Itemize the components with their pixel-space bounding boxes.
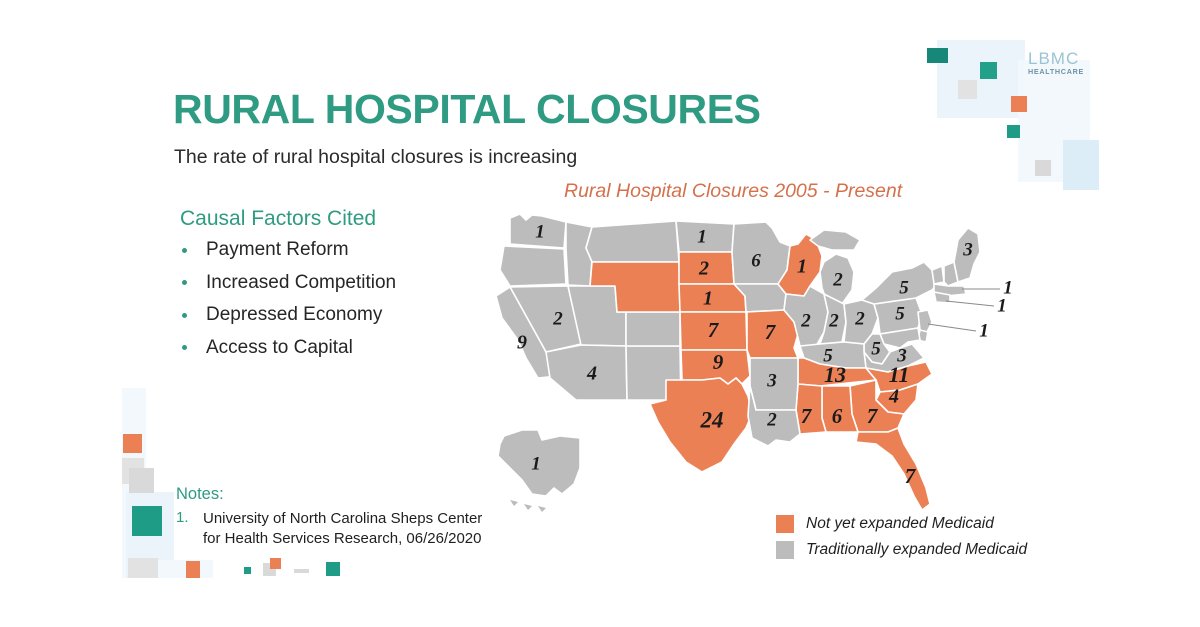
list-item: Payment Reform xyxy=(180,234,396,267)
state-value-ND: 1 xyxy=(697,226,707,247)
state-FL xyxy=(856,428,930,510)
legend-label: Not yet expanded Medicaid xyxy=(806,514,994,534)
decor-pale-block-bl-3 xyxy=(155,560,213,578)
us-choropleth-map: 1 1 6 2 1 7 7 1 2 2 9 4 9 24 3 2 2 2 2 5… xyxy=(480,200,1080,560)
causal-factors-heading: Causal Factors Cited xyxy=(180,207,376,231)
state-value-KS: 7 xyxy=(708,318,720,342)
decor-square-gray-tr-1 xyxy=(958,80,977,99)
list-item-label: Increased Competition xyxy=(206,272,396,293)
state-value-NV: 2 xyxy=(552,308,563,329)
causal-factors-list: Payment Reform Increased Competition Dep… xyxy=(180,234,396,364)
state-VT xyxy=(932,266,944,284)
leader-line-ct xyxy=(946,301,994,306)
state-value-PA: 5 xyxy=(895,303,905,324)
bullet-icon xyxy=(182,248,187,253)
bullet-icon xyxy=(182,313,187,318)
decor-square-gray-bl-2 xyxy=(129,468,154,493)
state-CO xyxy=(617,312,680,346)
lbmc-logo: LBMC HEALTHCARE xyxy=(1028,50,1096,75)
state-MT xyxy=(586,221,679,262)
state-value-MI: 2 xyxy=(832,269,843,290)
slide-canvas: LBMC HEALTHCARE RURAL HOSPITAL CLOSURES … xyxy=(0,0,1200,627)
logo-wordmark: LBMC xyxy=(1028,50,1096,67)
notes-text: University of North Carolina Sheps Cente… xyxy=(203,509,493,549)
bullet-icon xyxy=(182,345,187,350)
state-value-WI: 1 xyxy=(797,256,807,278)
decor-square-teal-bl-2 xyxy=(244,567,251,574)
decor-square-orange-tr-1 xyxy=(1011,96,1027,112)
state-value-AR: 3 xyxy=(766,370,777,391)
list-item-label: Access to Capital xyxy=(206,337,353,358)
decor-square-gray-bl-3 xyxy=(128,558,158,578)
decor-pale-block-tr-3 xyxy=(1063,140,1099,190)
legend-swatch-orange xyxy=(776,515,794,533)
state-AK-islands xyxy=(510,500,546,512)
state-value-IN: 2 xyxy=(828,310,839,331)
state-value-MO: 7 xyxy=(765,320,777,344)
state-value-AK: 1 xyxy=(531,453,541,474)
decor-square-gray-tr-2 xyxy=(1035,160,1051,176)
decor-square-teal-tr-1 xyxy=(927,48,948,63)
list-item: Depressed Economy xyxy=(180,299,396,332)
page-title: RURAL HOSPITAL CLOSURES xyxy=(173,86,761,133)
state-value-NC: 11 xyxy=(889,362,910,387)
state-value-NE: 1 xyxy=(703,288,713,310)
decor-square-orange-bl-1 xyxy=(123,434,142,453)
state-value-OH: 2 xyxy=(854,308,865,329)
notes-heading: Notes: xyxy=(176,485,224,504)
state-value-FL: 7 xyxy=(905,464,917,488)
state-value-GA: 7 xyxy=(867,404,879,428)
state-value-MS: 7 xyxy=(801,404,813,428)
state-value-CT: 1 xyxy=(997,295,1007,316)
decor-square-teal-bl-3 xyxy=(326,562,340,576)
state-value-WV: 5 xyxy=(871,338,881,359)
state-MN xyxy=(732,222,790,284)
state-value-NY: 5 xyxy=(899,277,909,298)
state-value-SD: 2 xyxy=(698,258,709,280)
state-value-AZ: 4 xyxy=(586,363,597,385)
state-value-OK: 9 xyxy=(713,350,724,374)
decor-square-gray-bl-5 xyxy=(294,569,309,573)
list-item-label: Depressed Economy xyxy=(206,304,382,325)
state-value-WA: 1 xyxy=(535,221,545,242)
decor-square-orange-bl-2 xyxy=(186,561,200,578)
logo-tagline: HEALTHCARE xyxy=(1028,68,1096,75)
state-value-AL: 6 xyxy=(832,404,843,428)
leader-line-nj xyxy=(928,324,976,331)
list-item-label: Payment Reform xyxy=(206,239,349,260)
legend-swatch-gray xyxy=(776,541,794,559)
state-value-MN: 6 xyxy=(751,250,761,271)
list-item: Increased Competition xyxy=(180,267,396,300)
decor-square-orange-bl-3 xyxy=(270,558,281,569)
state-value-ME: 3 xyxy=(962,239,973,260)
decor-square-teal-bl-1 xyxy=(132,506,162,536)
state-value-CA: 9 xyxy=(517,332,527,354)
bullet-icon xyxy=(182,280,187,285)
list-item: Access to Capital xyxy=(180,332,396,365)
state-value-LA: 2 xyxy=(766,409,777,430)
decor-square-teal-tr-3 xyxy=(1007,125,1020,138)
state-value-TX: 24 xyxy=(700,407,724,432)
state-value-TN: 13 xyxy=(824,362,846,387)
state-value-SC: 4 xyxy=(888,386,899,408)
state-value-IL: 2 xyxy=(800,310,811,331)
legend-label: Traditionally expanded Medicaid xyxy=(806,540,1027,560)
state-OR xyxy=(500,246,566,286)
page-subtitle: The rate of rural hospital closures is i… xyxy=(174,146,577,169)
notes-number: 1. xyxy=(176,509,189,526)
decor-square-teal-tr-2 xyxy=(980,62,997,79)
state-value-NJ: 1 xyxy=(979,320,989,341)
